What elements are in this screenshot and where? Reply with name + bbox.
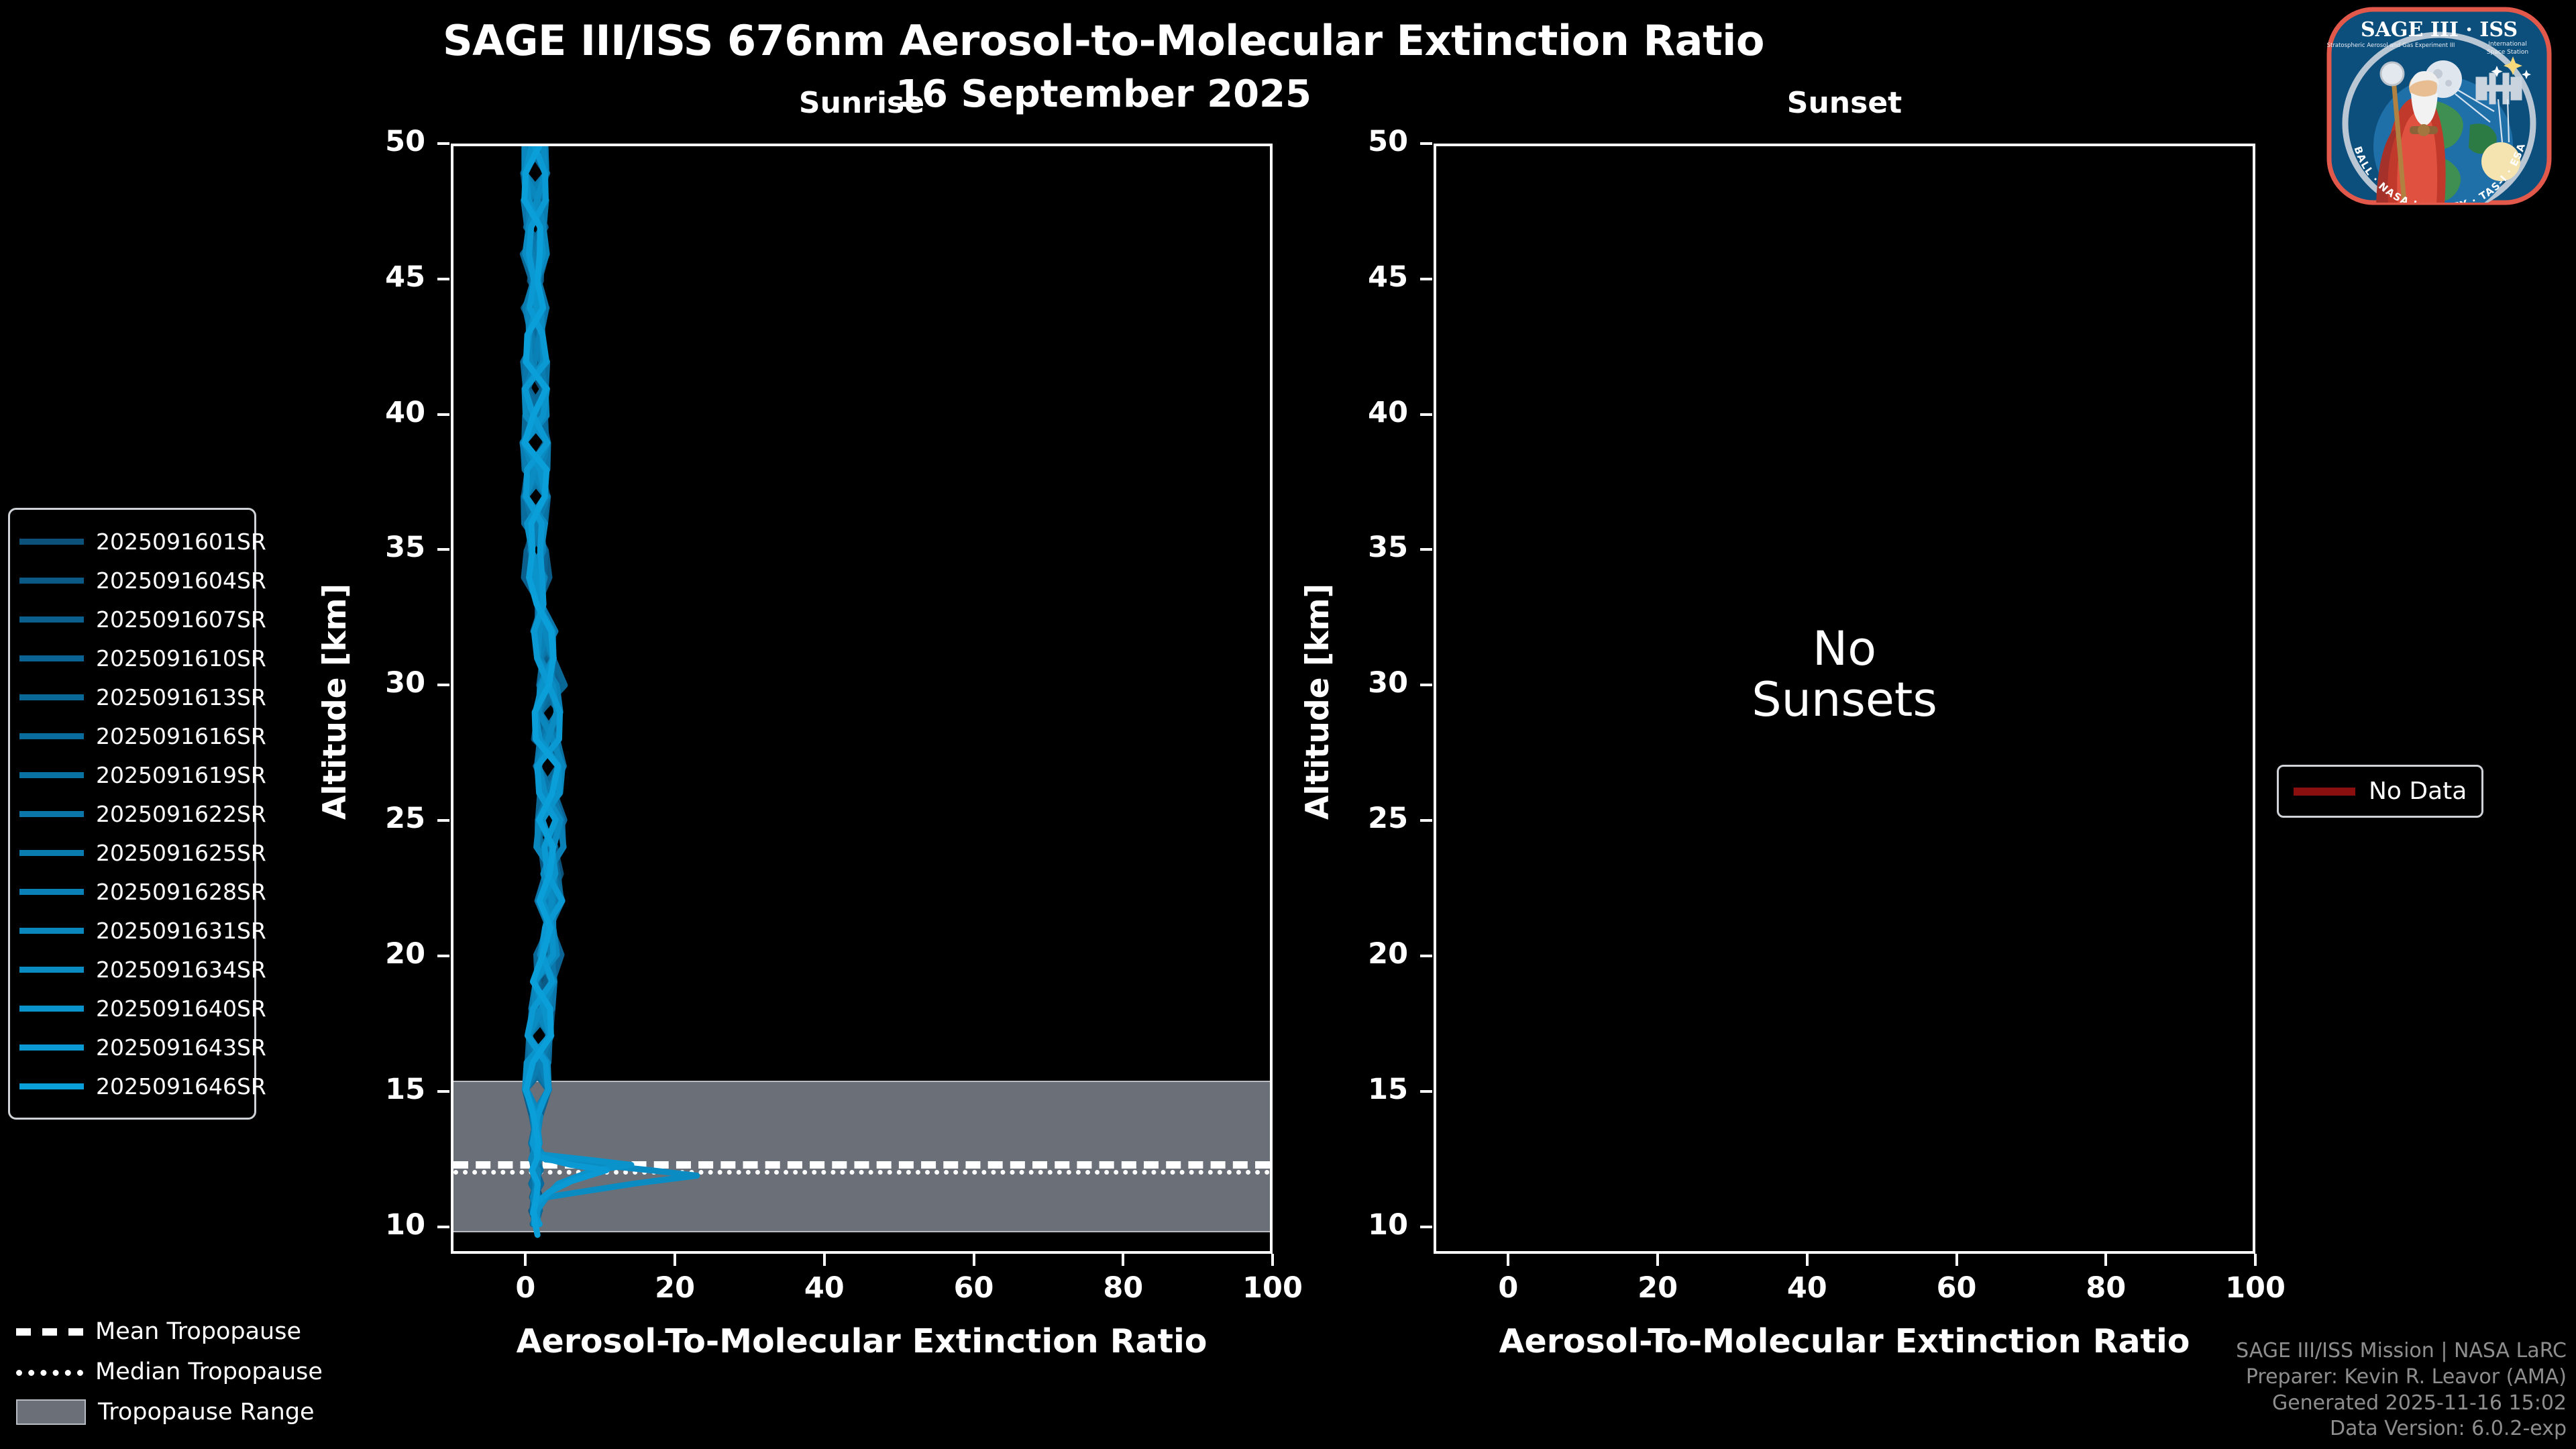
legend-item[interactable]: 2025091646SR: [19, 1067, 245, 1106]
legend-color-swatch: [19, 539, 84, 545]
y-tick-label: 10: [352, 1208, 425, 1242]
x-tick-mark: [2254, 1254, 2257, 1266]
y-tick-mark: [437, 684, 449, 686]
x-axis-title: Aerosol-To-Molecular Extinction Ratio: [451, 1322, 1273, 1360]
logo-subtitle-right-2: Space Station: [2487, 49, 2528, 56]
y-tick-mark: [1420, 1090, 1432, 1093]
y-tick-label: 45: [352, 260, 425, 294]
x-tick-mark: [674, 1254, 676, 1266]
no-data-label: No Data: [2369, 777, 2467, 805]
x-tick-label: 100: [2202, 1271, 2309, 1305]
y-tick-label: 30: [1334, 666, 1408, 700]
x-tick-mark: [1507, 1254, 1509, 1266]
y-tick-label: 35: [1334, 531, 1408, 564]
legend-color-swatch: [19, 889, 84, 895]
y-axis-title: Altitude [km]: [317, 583, 354, 819]
y-tick-label: 50: [1334, 125, 1408, 158]
x-tick-label: 60: [920, 1271, 1028, 1305]
sage-iii-iss-logo: BALL · NASA LANGLEY · TAS-I · ESA SAGE I…: [2312, 4, 2567, 205]
legend-item[interactable]: 2025091628SR: [19, 872, 245, 911]
legend-item-label: 2025091646SR: [96, 1073, 266, 1099]
legend-item[interactable]: 2025091601SR: [19, 522, 245, 561]
legend-item[interactable]: 2025091613SR: [19, 678, 245, 716]
y-tick-mark: [437, 819, 449, 822]
legend-item-label: 2025091619SR: [96, 762, 266, 788]
y-tick-label: 15: [1334, 1073, 1408, 1106]
legend-item[interactable]: 2025091616SR: [19, 716, 245, 755]
legend-color-swatch: [19, 1006, 84, 1012]
y-tick-mark: [437, 1226, 449, 1228]
y-tick-label: 25: [1334, 802, 1408, 835]
y-tick-mark: [1420, 278, 1432, 280]
logo-subtitle-right-1: International: [2488, 41, 2526, 48]
legend-item-label: 2025091628SR: [96, 879, 266, 905]
x-tick-label: 20: [621, 1271, 729, 1305]
y-tick-mark: [437, 955, 449, 957]
legend-item-label: 2025091601SR: [96, 529, 266, 555]
sunset-panel-heading: Sunset: [1434, 86, 2255, 120]
y-tick-mark: [1420, 684, 1432, 686]
sunrise-plot-area[interactable]: [451, 144, 1273, 1254]
no-data-legend[interactable]: No Data: [2277, 765, 2483, 818]
sunrise-profile-curves: [453, 146, 1270, 1251]
x-tick-label: 20: [1604, 1271, 1711, 1305]
x-tick-label: 0: [472, 1271, 579, 1305]
legend-item[interactable]: 2025091622SR: [19, 794, 245, 833]
legend-color-swatch: [19, 578, 84, 584]
footer-line-preparer: Preparer: Kevin R. Leavor (AMA): [2236, 1364, 2567, 1391]
tropopause-legend-label: Median Tropopause: [95, 1358, 323, 1385]
legend-item-label: 2025091631SR: [96, 918, 266, 944]
legend-item-label: 2025091634SR: [96, 957, 266, 983]
y-axis-title: Altitude [km]: [1299, 583, 1336, 819]
y-tick-label: 40: [352, 396, 425, 429]
tropopause-legend-label: Tropopause Range: [98, 1399, 315, 1426]
page-title: SAGE III/ISS 676nm Aerosol-to-Molecular …: [0, 16, 2207, 65]
y-tick-label: 30: [352, 666, 425, 700]
tropopause-legend-swatch: [16, 1362, 83, 1381]
x-tick-label: 80: [2052, 1271, 2159, 1305]
y-tick-mark: [1420, 819, 1432, 822]
y-tick-mark: [437, 278, 449, 280]
footer-line-generated: Generated 2025-11-16 15:02: [2236, 1391, 2567, 1417]
tropopause-legend-item: Tropopause Range: [7, 1392, 288, 1432]
footer-line-mission: SAGE III/ISS Mission | NASA LaRC: [2236, 1338, 2567, 1364]
x-tick-mark: [2104, 1254, 2107, 1266]
legend-item[interactable]: 2025091643SR: [19, 1028, 245, 1067]
legend-item[interactable]: 2025091610SR: [19, 639, 245, 678]
legend-color-swatch: [19, 655, 84, 661]
legend-item-label: 2025091613SR: [96, 684, 266, 710]
y-tick-mark: [437, 413, 449, 416]
legend-color-swatch: [19, 1083, 84, 1089]
y-tick-label: 35: [352, 531, 425, 564]
y-tick-mark: [437, 548, 449, 551]
y-tick-label: 15: [352, 1073, 425, 1106]
legend-item[interactable]: 2025091634SR: [19, 950, 245, 989]
legend-color-swatch: [19, 928, 84, 934]
x-tick-mark: [524, 1254, 527, 1266]
sunrise-event-legend[interactable]: 2025091601SR2025091604SR2025091607SR2025…: [8, 508, 256, 1120]
legend-item-label: 2025091643SR: [96, 1034, 266, 1061]
x-tick-label: 100: [1219, 1271, 1326, 1305]
x-tick-mark: [1806, 1254, 1809, 1266]
x-tick-label: 60: [1903, 1271, 2010, 1305]
y-tick-mark: [1420, 1226, 1432, 1228]
y-tick-label: 50: [352, 125, 425, 158]
legend-color-swatch: [19, 850, 84, 856]
tropopause-legend-item: Mean Tropopause: [7, 1311, 288, 1352]
y-tick-label: 20: [352, 937, 425, 971]
legend-item[interactable]: 2025091619SR: [19, 755, 245, 794]
legend-color-swatch: [19, 1044, 84, 1051]
x-axis-title: Aerosol-To-Molecular Extinction Ratio: [1434, 1322, 2255, 1360]
logo-subtitle-left: Stratospheric Aerosol and Gas Experiment…: [2327, 42, 2455, 49]
y-tick-mark: [1420, 413, 1432, 416]
legend-item-label: 2025091622SR: [96, 801, 266, 827]
legend-color-swatch: [19, 967, 84, 973]
tropopause-legend: Mean TropopauseMedian TropopauseTropopau…: [7, 1311, 288, 1432]
x-tick-mark: [1122, 1254, 1124, 1266]
tropopause-legend-swatch: [16, 1322, 83, 1341]
legend-color-swatch: [19, 772, 84, 778]
x-tick-label: 0: [1454, 1271, 1562, 1305]
tropopause-legend-label: Mean Tropopause: [95, 1318, 301, 1345]
no-data-swatch: [2294, 788, 2355, 796]
x-tick-label: 80: [1069, 1271, 1177, 1305]
y-tick-label: 20: [1334, 937, 1408, 971]
y-tick-label: 25: [352, 802, 425, 835]
y-tick-label: 45: [1334, 260, 1408, 294]
legend-item-label: 2025091640SR: [96, 996, 266, 1022]
x-tick-label: 40: [1754, 1271, 1861, 1305]
y-tick-mark: [437, 1090, 449, 1093]
footer-credits: SAGE III/ISS Mission | NASA LaRC Prepare…: [2236, 1338, 2567, 1442]
legend-item[interactable]: 2025091640SR: [19, 989, 245, 1028]
legend-item-label: 2025091604SR: [96, 568, 266, 594]
x-tick-mark: [823, 1254, 826, 1266]
tropopause-legend-item: Median Tropopause: [7, 1352, 288, 1392]
legend-color-swatch: [19, 733, 84, 739]
x-tick-label: 40: [771, 1271, 878, 1305]
x-tick-mark: [1271, 1254, 1274, 1266]
x-tick-mark: [973, 1254, 975, 1266]
y-tick-label: 40: [1334, 396, 1408, 429]
y-tick-mark: [1420, 548, 1432, 551]
legend-color-swatch: [19, 694, 84, 700]
legend-color-swatch: [19, 811, 84, 817]
tropopause-legend-swatch: [16, 1399, 86, 1425]
legend-item-label: 2025091607SR: [96, 606, 266, 633]
legend-color-swatch: [19, 616, 84, 623]
x-tick-mark: [1656, 1254, 1659, 1266]
sunrise-panel-heading: Sunrise: [451, 86, 1273, 120]
legend-item[interactable]: 2025091604SR: [19, 561, 245, 600]
legend-item[interactable]: 2025091607SR: [19, 600, 245, 639]
legend-item[interactable]: 2025091625SR: [19, 833, 245, 872]
y-tick-mark: [437, 142, 449, 145]
no-sunsets-message: No Sunsets: [1434, 624, 2255, 725]
legend-item-label: 2025091625SR: [96, 840, 266, 866]
logo-title: SAGE III · ISS: [2361, 18, 2518, 42]
footer-line-version: Data Version: 6.0.2-exp: [2236, 1416, 2567, 1442]
y-tick-label: 10: [1334, 1208, 1408, 1242]
y-tick-mark: [1420, 142, 1432, 145]
legend-item[interactable]: 2025091631SR: [19, 911, 245, 950]
y-tick-mark: [1420, 955, 1432, 957]
legend-item-label: 2025091616SR: [96, 723, 266, 749]
legend-item-label: 2025091610SR: [96, 645, 266, 672]
x-tick-mark: [1955, 1254, 1958, 1266]
